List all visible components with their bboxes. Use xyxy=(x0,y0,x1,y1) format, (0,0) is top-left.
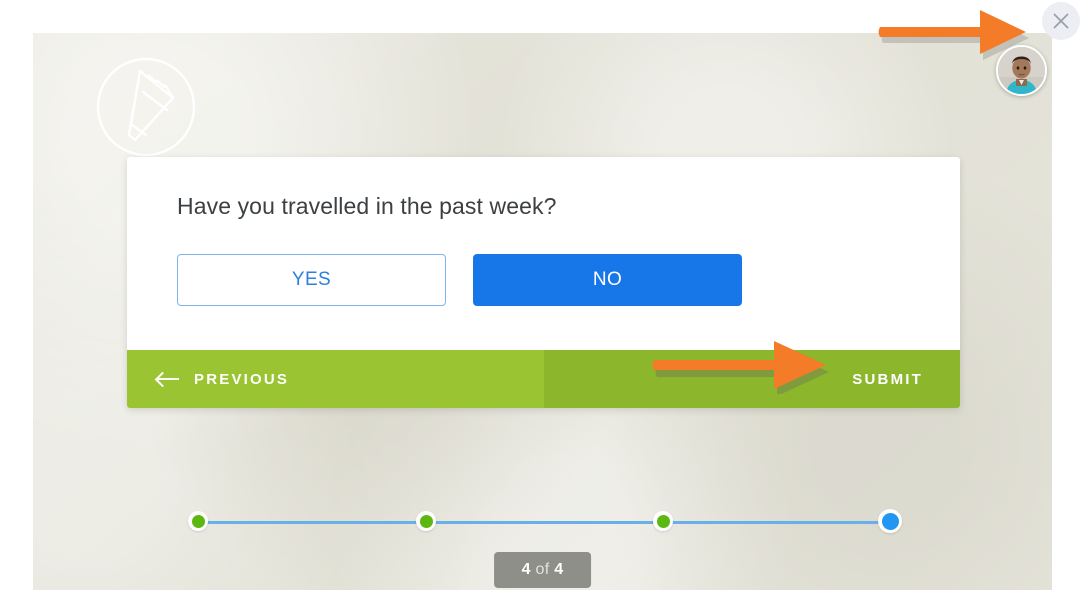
progress-dot-4[interactable] xyxy=(878,509,902,533)
progress-dot-1[interactable] xyxy=(188,511,208,531)
progress-section: 4 of 4 xyxy=(33,481,1052,590)
question-dialog: Have you travelled in the past week? YES… xyxy=(127,157,960,408)
avatar-photo xyxy=(998,47,1045,94)
progress-dot-3[interactable] xyxy=(653,511,673,531)
step-counter-badge: 4 of 4 xyxy=(494,552,592,588)
step-total: 4 xyxy=(554,561,563,578)
progress-dot-2[interactable] xyxy=(416,511,436,531)
arrow-left-icon xyxy=(157,372,179,386)
question-body: Have you travelled in the past week? YES… xyxy=(127,157,960,350)
answer-yes-button[interactable]: YES xyxy=(177,254,446,306)
close-button[interactable] xyxy=(1042,2,1080,40)
answer-options: YES NO xyxy=(177,254,910,306)
submit-button-label: SUBMIT xyxy=(852,371,923,388)
survey-card: Have you travelled in the past week? YES… xyxy=(33,33,1052,590)
previous-button[interactable]: PREVIOUS xyxy=(127,350,544,408)
answer-no-button[interactable]: NO xyxy=(473,254,742,306)
previous-button-label: PREVIOUS xyxy=(194,371,289,388)
question-text: Have you travelled in the past week? xyxy=(177,193,910,220)
dialog-footer: PREVIOUS SUBMIT xyxy=(127,350,960,408)
step-of-label: of xyxy=(536,561,550,578)
step-current: 4 xyxy=(522,561,531,578)
close-x-icon xyxy=(1051,11,1071,31)
progress-track xyxy=(188,511,900,533)
pencil-in-circle-icon xyxy=(95,56,197,158)
submit-button[interactable]: SUBMIT xyxy=(544,350,961,408)
progress-line xyxy=(188,521,900,524)
user-avatar[interactable] xyxy=(996,45,1047,96)
